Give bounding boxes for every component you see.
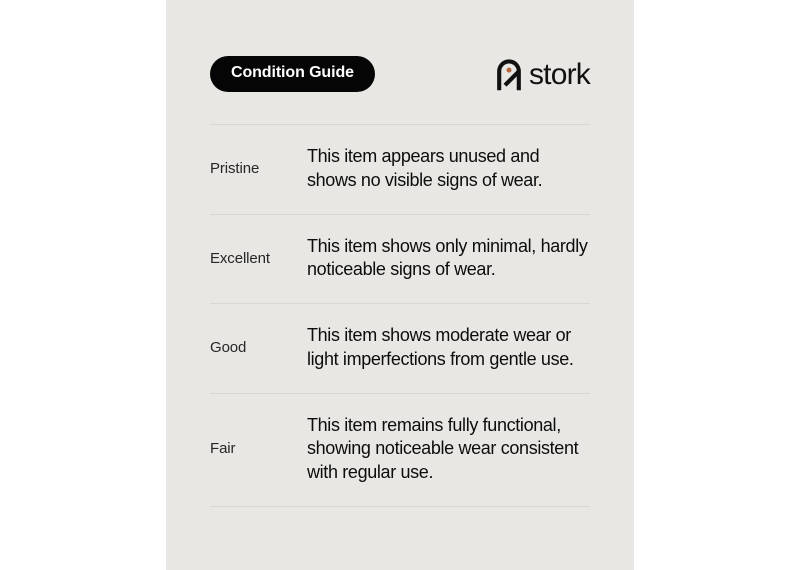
panel-header: Condition Guide stork: [210, 55, 590, 93]
stork-arch-icon: [496, 58, 522, 91]
condition-description: This item shows moderate wear or light i…: [307, 324, 590, 372]
condition-label: Pristine: [210, 159, 307, 179]
condition-description: This item shows only minimal, hardly not…: [307, 235, 590, 283]
condition-label: Good: [210, 338, 307, 358]
condition-guide-table: Pristine This item appears unused and sh…: [210, 124, 590, 507]
table-row: Pristine This item appears unused and sh…: [210, 125, 590, 214]
brand-wordmark: stork: [529, 60, 590, 90]
row-divider-bottom: [210, 506, 590, 507]
condition-guide-pill[interactable]: Condition Guide: [210, 56, 375, 92]
condition-description: This item remains fully functional, show…: [307, 414, 590, 485]
condition-label: Excellent: [210, 249, 307, 269]
table-row: Good This item shows moderate wear or li…: [210, 304, 590, 393]
condition-guide-panel: Condition Guide stork Pristine This item…: [166, 0, 634, 570]
table-row: Fair This item remains fully functional,…: [210, 394, 590, 506]
table-row: Excellent This item shows only minimal, …: [210, 215, 590, 304]
condition-label: Fair: [210, 439, 307, 459]
brand-lockup: stork: [496, 57, 590, 91]
condition-description: This item appears unused and shows no vi…: [307, 145, 590, 193]
